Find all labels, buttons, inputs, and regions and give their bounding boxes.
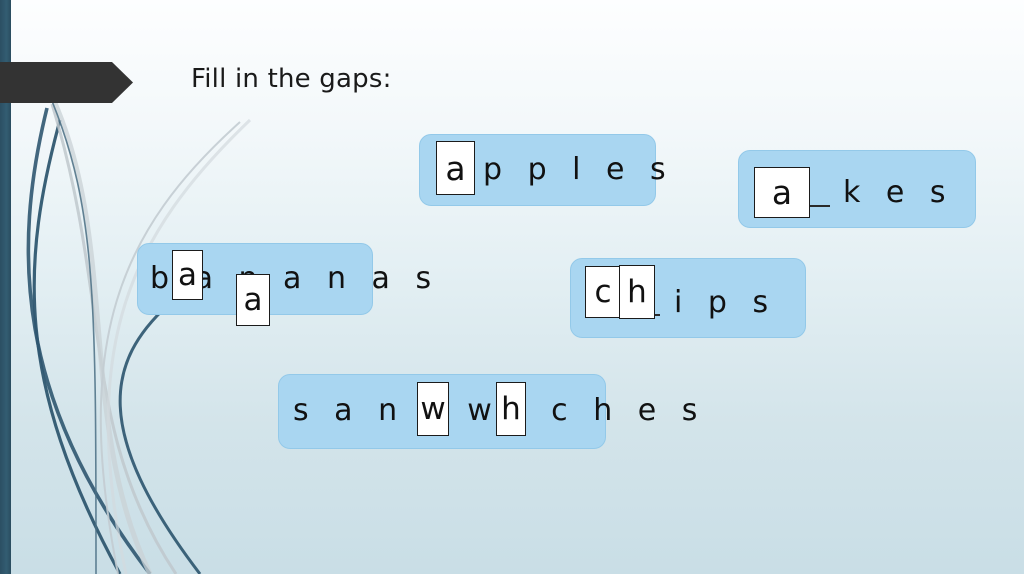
arrow-banner bbox=[0, 62, 133, 103]
answer-tile-apples-1[interactable]: a bbox=[436, 141, 475, 195]
page-title: Fill in the gaps: bbox=[191, 64, 392, 94]
slide-canvas: Fill in the gaps: p p l e s a k e s a b … bbox=[0, 0, 1024, 574]
word-letters-chips: i p s bbox=[674, 285, 776, 320]
answer-tile-bananas-1[interactable]: a bbox=[172, 250, 203, 300]
word-letters-cakes: k e s bbox=[843, 175, 954, 210]
answer-tile-sandwiches-1[interactable]: w bbox=[417, 382, 449, 436]
answer-tile-sandwiches-2[interactable]: h bbox=[496, 382, 526, 436]
word-letters-apples: p p l e s bbox=[483, 152, 674, 187]
answer-tile-bananas-2[interactable]: a bbox=[236, 274, 270, 326]
answer-tile-chips-1[interactable]: c bbox=[585, 266, 621, 318]
answer-tile-chips-2[interactable]: h bbox=[619, 265, 655, 319]
answer-tile-cakes-1[interactable]: a bbox=[754, 167, 810, 218]
